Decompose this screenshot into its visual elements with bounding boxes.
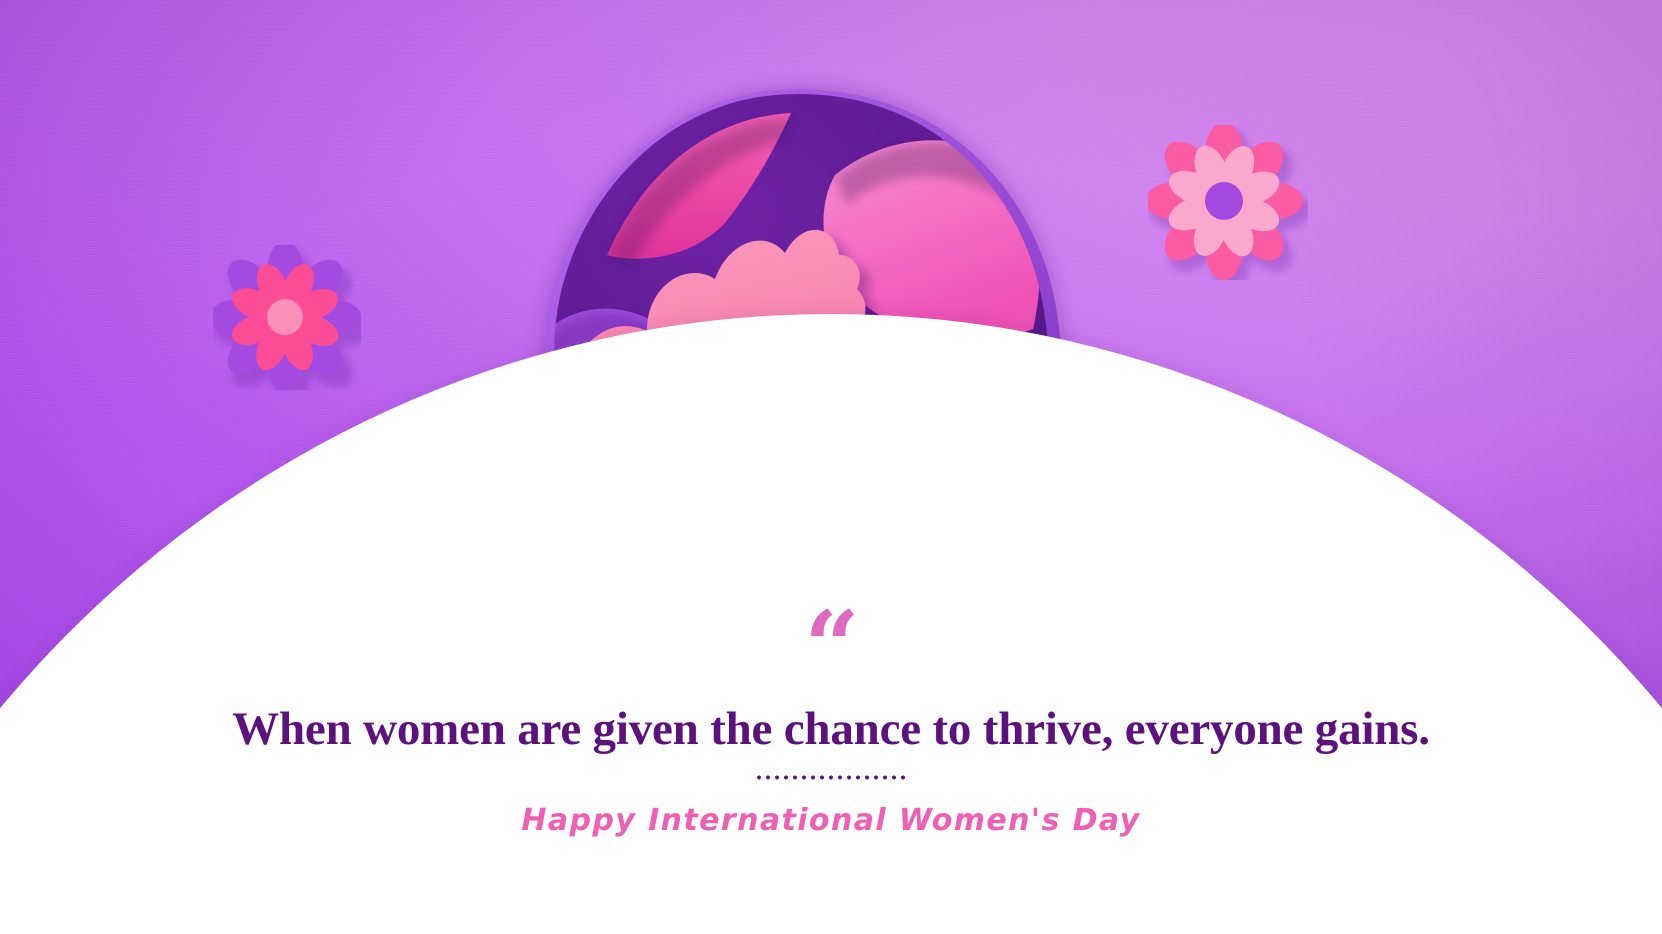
- quote-text: When women are given the chance to thriv…: [0, 703, 1662, 756]
- dotted-divider: [756, 774, 906, 781]
- flower-left: [213, 245, 361, 390]
- womens-day-banner: “ When women are given the chance to thr…: [0, 0, 1662, 934]
- text-block: “ When women are given the chance to thr…: [0, 612, 1662, 838]
- quote-mark-icon: “: [0, 612, 1662, 681]
- tagline-text: Happy International Women's Day: [0, 803, 1662, 838]
- flower-right: [1148, 125, 1308, 280]
